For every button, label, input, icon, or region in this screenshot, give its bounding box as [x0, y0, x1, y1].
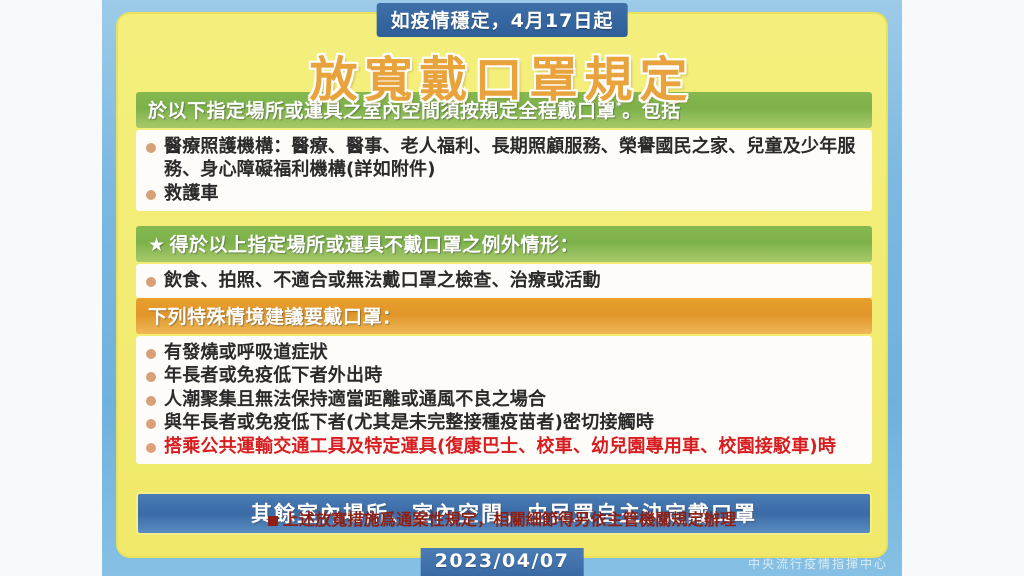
left-gutter — [0, 0, 102, 576]
publish-date: 2023/04/07 — [421, 548, 584, 576]
list-item-highlighted: 搭乘公共運輸交通工具及特定運具(復康巴士、校車、幼兒園專用車、校園接駁車)時 — [144, 435, 862, 458]
right-gutter — [902, 0, 1024, 576]
list-item: 人潮聚集且無法保持適當距離或通風不良之場合 — [144, 388, 862, 411]
bullet-list-recommended: 有發燒或呼吸道症狀 年長者或免疫低下者外出時 人潮聚集且無法保持適當距離或通風不… — [144, 341, 862, 458]
section-body-exceptions: 飲食、拍照、不適合或無法戴口罩之檢查、治療或活動 — [136, 264, 872, 298]
footnote-text: 上述放寬措施爲通案性規定，相關細節得另依主管機關規定辦理 — [283, 510, 737, 529]
infographic-poster: 放寬戴口罩規定 於以下指定場所或運具之室內空間須按規定全程戴口罩*。包括 醫療照… — [102, 0, 902, 576]
yellow-panel: 放寬戴口罩規定 於以下指定場所或運具之室內空間須按規定全程戴口罩*。包括 醫療照… — [116, 12, 888, 558]
bullet-list-required: 醫療照護機構：醫療、醫事、老人福利、長期照顧服務、榮譽國民之家、兒童及少年服務、… — [144, 135, 862, 205]
page-title: 放寬戴口罩規定 — [118, 40, 886, 110]
section-exceptions: ★得於以上指定場所或運具不戴口罩之例外情形： 飲食、拍照、不適合或無法戴口罩之檢… — [136, 226, 872, 298]
square-bullet-icon — [268, 516, 278, 526]
section-body-recommended: 有發燒或呼吸道症狀 年長者或免疫低下者外出時 人潮聚集且無法保持適當距離或通風不… — [136, 336, 872, 464]
section-body-required: 醫療照護機構：醫療、醫事、老人福利、長期照顧服務、榮譽國民之家、兒童及少年服務、… — [136, 130, 872, 211]
list-item: 飲食、拍照、不適合或無法戴口罩之檢查、治療或活動 — [144, 269, 862, 292]
section-recommended: 下列特殊情境建議要戴口罩： 有發燒或呼吸道症狀 年長者或免疫低下者外出時 人潮聚… — [136, 298, 872, 464]
list-item: 與年長者或免疫低下者(尤其是未完整接種疫苗者)密切接觸時 — [144, 411, 862, 434]
bullet-list-exceptions: 飲食、拍照、不適合或無法戴口罩之檢查、治療或活動 — [144, 269, 862, 292]
section-header-text-recommended: 下列特殊情境建議要戴口罩： — [148, 306, 402, 328]
list-item: 醫療照護機構：醫療、醫事、老人福利、長期照顧服務、榮譽國民之家、兒童及少年服務、… — [144, 135, 862, 182]
footnote: 上述放寬措施爲通案性規定，相關細節得另依主管機關規定辦理 — [118, 506, 886, 530]
section-header-bar-exceptions: ★得於以上指定場所或運具不戴口罩之例外情形： — [136, 226, 872, 262]
star-icon: ★ — [148, 234, 166, 256]
list-item: 救護車 — [144, 182, 862, 205]
section-header-bar-recommended: 下列特殊情境建議要戴口罩： — [136, 298, 872, 334]
effective-date-badge: 如疫情穩定，4月17日起 — [377, 3, 628, 37]
issuing-authority-credit: 中央流行疫情指揮中心 — [748, 555, 888, 572]
list-item: 年長者或免疫低下者外出時 — [144, 364, 862, 387]
section-header-text-exceptions: 得於以上指定場所或運具不戴口罩之例外情形： — [170, 234, 580, 256]
list-item: 有發燒或呼吸道症狀 — [144, 341, 862, 364]
